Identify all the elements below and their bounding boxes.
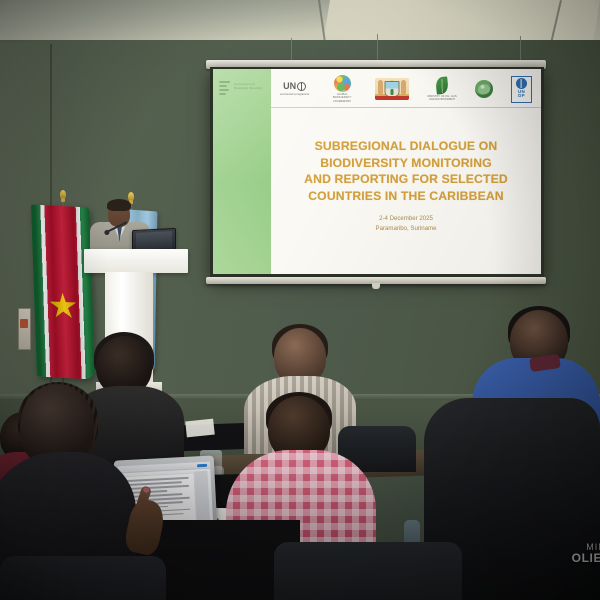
slide-side-panel: Convention on Biological Diversity (213, 69, 271, 274)
photo-watermark: MIN OLIE, (572, 542, 600, 566)
wall-socket[interactable] (18, 308, 31, 350)
screen-cable-right (520, 36, 521, 62)
document-scroll-area[interactable] (194, 471, 210, 528)
undp-emblem-icon (516, 78, 527, 89)
environment-agency-logo (475, 80, 493, 98)
slide-title-line-3: AND REPORTING FOR SELECTED (304, 171, 508, 188)
leaf-icon (435, 76, 449, 94)
podium-top (84, 249, 188, 273)
screen-cable-left (291, 38, 292, 62)
gbf-globe-icon (334, 75, 351, 92)
slide-title-line-2: BIODIVERSITY MONITORING (304, 155, 508, 172)
suriname-flag (31, 205, 95, 380)
ministry-caption: MINISTRY OF OIL, GAS AND ENVIRONMENT (427, 95, 457, 101)
undp-letters: UNDP (518, 90, 525, 99)
undp-logo: UNDP (511, 76, 532, 103)
green-circle-icon (475, 80, 493, 98)
unep-globe-icon (297, 82, 306, 91)
flag-finial-right (128, 192, 134, 201)
flag-fold-shading (31, 205, 95, 380)
speaker-hair (107, 199, 131, 211)
slide-subtitle-dates: 2-4 December 2025 (376, 214, 437, 224)
chair-back-front-center (274, 542, 462, 600)
cbd-mark-icon (219, 81, 231, 97)
projection-screen-surface: Convention on Biological Diversity UN en… (213, 69, 541, 274)
un-environment-programme-logo: UN environment programme (280, 82, 309, 96)
ministry-of-oil-gas-and-environment-logo: MINISTRY OF OIL, GAS AND ENVIRONMENT (427, 77, 457, 101)
watermark-line-1: MIN (572, 542, 600, 552)
undp-frame: UNDP (511, 76, 532, 103)
slide-content: SUBREGIONAL DIALOGUE ON BIODIVERSITY MON… (271, 108, 541, 274)
screen-cable-center (377, 34, 378, 62)
unep-wordmark: UN (283, 82, 306, 91)
paper-sheet (185, 419, 215, 438)
projection-screen-pull-tab[interactable] (372, 283, 380, 289)
watermark-line-2: OLIE, (572, 552, 600, 566)
slide-subtitle: 2-4 December 2025 Paramaribo, Suriname (376, 214, 437, 234)
flag-finial-left (60, 190, 66, 199)
chair-back-front-left (0, 556, 166, 600)
gbf-caption: GLOBAL BIODIVERSITY FRAMEWORK (327, 93, 357, 103)
presentation-slide: Convention on Biological Diversity UN en… (213, 69, 541, 274)
coat-of-arms-icon (375, 78, 409, 100)
slide-title-line-1: SUBREGIONAL DIALOGUE ON (304, 138, 508, 155)
conference-photo-scene: Convention on Biological Diversity UN en… (0, 0, 600, 600)
slide-logo-band: UN environment programme GLOBAL BIODIVER… (271, 69, 541, 108)
slide-main-area: UN environment programme GLOBAL BIODIVER… (271, 69, 541, 274)
global-biodiversity-framework-logo: GLOBAL BIODIVERSITY FRAMEWORK (327, 75, 357, 103)
unep-wordmark-text: UN (283, 82, 296, 91)
unep-caption: environment programme (280, 93, 309, 97)
slide-subtitle-location: Paramaribo, Suriname (376, 224, 437, 234)
cbd-logo-caption: Convention on Biological Diversity (234, 81, 268, 91)
convention-on-biological-diversity-logo: Convention on Biological Diversity (219, 81, 268, 97)
slide-title: SUBREGIONAL DIALOGUE ON BIODIVERSITY MON… (304, 138, 508, 204)
suriname-coat-of-arms-logo (375, 78, 409, 100)
slide-title-line-4: COUNTRIES IN THE CARIBBEAN (304, 188, 508, 205)
